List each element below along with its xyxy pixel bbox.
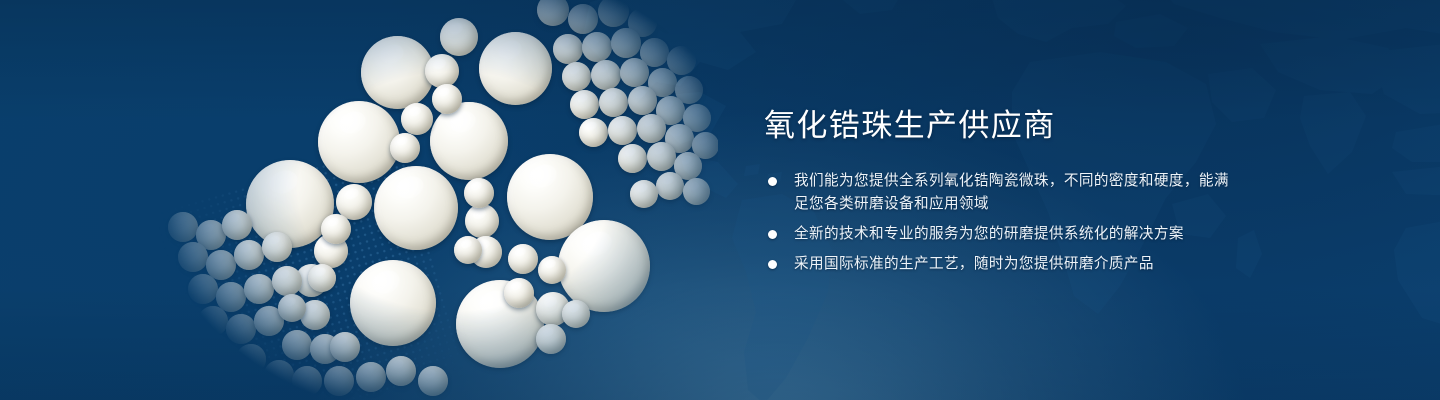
bead [656, 172, 684, 200]
bead [465, 204, 499, 238]
bead [222, 210, 252, 240]
bead [418, 366, 448, 396]
bead [537, 0, 569, 26]
bead [647, 142, 676, 171]
bead [178, 242, 208, 272]
bead [188, 274, 218, 304]
bead [562, 300, 590, 328]
bead [292, 366, 322, 396]
bead [350, 260, 436, 346]
list-item: 我们能为您提供全系列氧化锆陶瓷微珠，不同的密度和硬度，能满足您各类研磨设备和应用… [764, 170, 1234, 216]
bead [356, 362, 386, 392]
bead [308, 264, 336, 292]
bead [198, 306, 228, 336]
bead [620, 58, 649, 87]
bead [553, 34, 583, 64]
bead [234, 240, 264, 270]
bead [425, 54, 459, 88]
bead [278, 294, 306, 322]
bead [684, 14, 712, 42]
bead [683, 178, 710, 205]
bead [464, 178, 494, 208]
bead [558, 220, 650, 312]
bead [479, 32, 552, 105]
bead [579, 118, 608, 147]
hero-banner: 氧化锆珠生产供应商 我们能为您提供全系列氧化锆陶瓷微珠，不同的密度和硬度，能满足… [0, 0, 1440, 400]
bead [401, 103, 433, 135]
bead [330, 332, 360, 362]
bead [618, 144, 647, 173]
bead [440, 18, 478, 56]
bullet-dot-icon [768, 177, 777, 186]
bead [628, 86, 657, 115]
bead [361, 36, 434, 109]
page-title: 氧化锆珠生产供应商 [764, 106, 1234, 146]
list-item-text: 我们能为您提供全系列氧化锆陶瓷微珠，不同的密度和硬度，能满足您各类研磨设备和应用… [794, 173, 1229, 212]
bead [236, 344, 266, 374]
bead [226, 314, 256, 344]
bead [611, 28, 641, 58]
list-item: 全新的技术和专业的服务为您的研磨提供系统化的解决方案 [764, 223, 1234, 246]
bead [504, 278, 534, 308]
bead [246, 160, 334, 248]
zirconia-beads-photo [118, 0, 718, 400]
list-item: 采用国际标准的生产工艺，随时为您提供研磨介质产品 [764, 253, 1234, 276]
bead [244, 274, 274, 304]
feature-list: 我们能为您提供全系列氧化锆陶瓷微珠，不同的密度和硬度，能满足您各类研磨设备和应用… [764, 170, 1234, 276]
bead [637, 114, 666, 143]
bead [432, 84, 462, 114]
bead [657, 0, 687, 30]
bead [599, 88, 628, 117]
bead [536, 324, 566, 354]
bead [608, 116, 637, 145]
bullet-dot-icon [768, 260, 777, 269]
bead [454, 236, 482, 264]
bead [282, 330, 312, 360]
bead [324, 366, 354, 396]
bead [321, 214, 351, 244]
bead [570, 90, 599, 119]
bullet-dot-icon [768, 230, 777, 239]
bead [508, 244, 538, 274]
bead [591, 60, 621, 90]
bead [318, 101, 400, 183]
bead [630, 180, 658, 208]
banner-copy: 氧化锆珠生产供应商 我们能为您提供全系列氧化锆陶瓷微珠，不同的密度和硬度，能满足… [764, 106, 1234, 276]
bead [390, 133, 420, 163]
list-item-text: 采用国际标准的生产工艺，随时为您提供研磨介质产品 [794, 256, 1154, 272]
bead [386, 356, 416, 386]
bead [272, 266, 302, 296]
bead [168, 212, 198, 242]
bead [538, 256, 566, 284]
bead [262, 232, 292, 262]
bead [598, 0, 629, 27]
list-item-text: 全新的技术和专业的服务为您的研磨提供系统化的解决方案 [794, 226, 1184, 242]
bead [374, 166, 458, 250]
bead [562, 62, 591, 91]
bead [430, 102, 508, 180]
bead [568, 4, 598, 34]
bead [582, 32, 612, 62]
bead [264, 360, 294, 390]
